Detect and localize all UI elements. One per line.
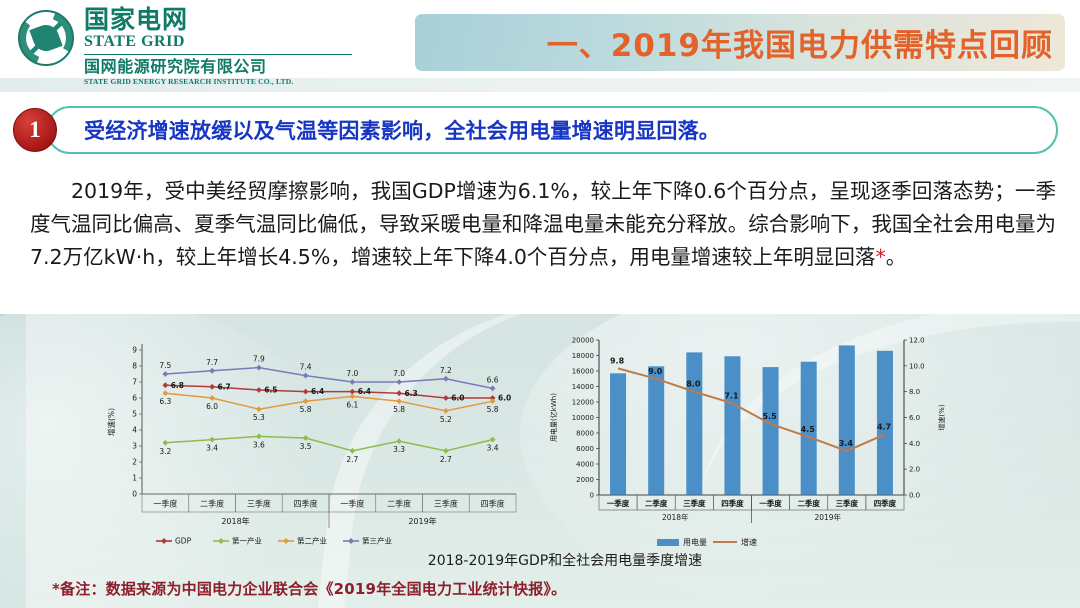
bar [610,373,626,495]
value-label-growth: 7.1 [724,391,739,400]
value-label-growth: 3.4 [839,439,854,448]
electricity-consumption-bar-chart: 0200040006000800010000120001400016000180… [545,328,950,553]
data-point [303,373,309,379]
y-tick-label-left: 16000 [572,368,594,376]
y-tick-label: 8 [132,362,137,371]
logo-title-cn: 国家电网 [84,6,352,33]
legend-label-第一产业: 第一产业 [232,536,262,546]
data-point [162,382,168,388]
body-paragraph: 2019年，受中美经贸摩擦影响，我国GDP增速为6.1%，较上年下降0.6个百分… [30,175,1056,275]
data-point [303,398,309,404]
data-point [256,387,262,393]
y-tick-label: 1 [132,474,137,483]
value-label-primary: 2.7 [440,455,452,464]
y-axis-label: 增速(%) [106,408,116,436]
value-label-secondary: 5.8 [300,405,312,414]
bar [724,356,740,495]
y-tick-label-right: 10.0 [909,362,925,370]
x-tick-label: 三季度 [683,498,706,508]
data-point [162,390,168,396]
value-label-tertiary: 7.4 [300,363,312,372]
x-tick-label: 三季度 [434,499,458,509]
data-point [396,398,402,404]
value-label-gdp: 6.5 [264,386,277,395]
headline-number-badge: 1 [13,108,57,152]
footnote-asterisk: * [875,245,885,269]
data-point [303,389,309,395]
bar [763,367,779,495]
data-point [209,437,215,443]
data-point [256,434,262,440]
data-point [349,394,355,400]
x-tick-label: 四季度 [721,498,744,508]
logo-subtitle-en: STATE GRID ENERGY RESEARCH INSTITUTE CO.… [84,77,352,86]
value-label-primary: 3.3 [393,445,405,454]
y-tick-label-right: 2.0 [909,466,920,474]
value-label-tertiary: 7.2 [440,366,452,375]
data-point [490,386,496,392]
value-label-gdp: 6.8 [171,381,184,390]
x-tick-label: 四季度 [874,498,897,508]
charts-region: 0123456789增速(%)一季度二季度三季度四季度一季度二季度三季度四季度2… [0,318,1080,608]
data-point [349,379,355,385]
legend-marker [348,538,354,544]
legend-label-bar: 用电量 [683,537,707,547]
page-title: 一、2019年我国电力供需特点回顾 [547,20,1053,65]
value-label-growth: 4.7 [877,422,891,431]
logo-text-block: 国家电网 STATE GRID 国网能源研究院有限公司 STATE GRID E… [84,6,352,86]
y-tick-label-left: 0 [590,492,594,500]
data-point [209,368,215,374]
x-group-label: 2019年 [408,516,436,526]
legend-swatch-bar [657,539,679,546]
y-tick-label: 5 [132,410,137,419]
company-logo: 国家电网 STATE GRID 国网能源研究院有限公司 STATE GRID E… [18,6,352,86]
value-label-primary: 3.4 [487,444,499,453]
data-point [256,365,262,371]
x-tick-label: 二季度 [387,499,411,509]
value-label-gdp: 6.4 [358,387,371,396]
y-tick-label-right: 6.0 [909,414,920,422]
x-tick-label: 一季度 [759,498,782,508]
data-point [490,398,496,404]
value-label-tertiary: 7.9 [253,355,265,364]
value-label-tertiary: 7.0 [346,369,358,378]
value-label-tertiary: 7.0 [393,369,405,378]
value-label-primary: 3.2 [159,447,171,456]
legend-marker [161,538,167,544]
x-tick-label: 一季度 [153,499,177,509]
legend-marker [218,538,224,544]
y-tick-label-left: 6000 [576,445,594,453]
logo-title-en: STATE GRID [84,33,352,51]
data-point [209,395,215,401]
x-tick-label: 四季度 [481,499,505,509]
value-label-tertiary: 7.7 [206,358,218,367]
state-grid-logo-icon [18,10,74,66]
x-tick-label: 一季度 [340,499,364,509]
data-point [349,448,355,454]
value-label-growth: 4.5 [801,425,816,434]
value-label-primary: 3.4 [206,444,218,453]
value-label-secondary: 5.3 [253,413,265,422]
value-label-growth: 9.0 [648,367,663,376]
legend-label-第三产业: 第三产业 [362,536,392,546]
value-label-gdp: 6.0 [498,394,511,403]
y-tick-label-right: 12.0 [909,337,925,345]
y-tick-label-right: 4.0 [909,440,920,448]
value-label-primary: 3.6 [253,440,265,449]
value-label-growth: 9.8 [610,356,625,365]
data-point [443,448,449,454]
data-point [303,435,309,441]
chart-caption: 2018-2019年GDP和全社会用电量季度增速 [330,550,800,570]
x-tick-label: 二季度 [645,498,668,508]
data-point [209,384,215,390]
legend-label-line: 增速 [741,537,757,547]
bar [648,366,664,495]
value-label-gdp: 6.7 [217,382,230,391]
headline-text: 受经济增速放缓以及气温等因素影响，全社会用电量增速明显回落。 [84,115,720,145]
value-label-growth: 5.5 [762,412,777,421]
value-label-secondary: 5.2 [440,415,452,424]
data-point [162,440,168,446]
value-label-primary: 3.5 [300,442,312,451]
data-point [443,376,449,382]
source-footnote: *备注：数据来源为中国电力企业联合会《2019年全国电力工业统计快报》。 [52,578,566,599]
x-tick-label: 三季度 [836,498,859,508]
x-group-label: 2019年 [814,512,841,522]
data-point [396,390,402,396]
value-label-secondary: 6.3 [159,397,171,406]
y-tick-label-left: 12000 [572,399,594,407]
x-group-label: 2018年 [662,512,689,522]
x-group-label: 2018年 [221,516,249,526]
value-label-growth: 8.0 [686,380,701,389]
value-label-secondary: 6.1 [346,400,358,409]
data-point [256,406,262,412]
y-tick-label: 7 [132,378,137,387]
y-tick-label-right: 8.0 [909,388,920,396]
y-tick-label: 2 [132,458,137,467]
logo-divider [84,54,352,55]
slide-header: 国家电网 STATE GRID 国网能源研究院有限公司 STATE GRID E… [0,0,1080,92]
y-tick-label-left: 14000 [572,383,594,391]
x-tick-label: 四季度 [294,499,318,509]
paragraph-tail: 。 [886,245,907,269]
y-tick-label: 4 [132,426,137,435]
y-tick-label: 9 [132,346,137,355]
y-tick-label-left: 4000 [576,461,594,469]
x-tick-label: 三季度 [247,499,271,509]
value-label-secondary: 5.8 [487,405,499,414]
headline-bar: 受经济增速放缓以及气温等因素影响，全社会用电量增速明显回落。 [46,106,1058,154]
data-point [396,438,402,444]
legend-label-GDP: GDP [175,537,192,546]
data-point [396,379,402,385]
y-tick-label: 3 [132,442,137,451]
data-point [443,395,449,401]
y-tick-label: 6 [132,394,137,403]
section-title-banner: 一、2019年我国电力供需特点回顾 [415,14,1065,71]
y-tick-label-right: 0.0 [909,492,920,500]
y-axis-label-left: 用电量(亿kWh) [549,393,558,442]
value-label-secondary: 6.0 [206,402,218,411]
value-label-tertiary: 6.6 [487,375,499,384]
y-tick-label-left: 18000 [572,352,594,360]
y-axis-label-right: 增速(%) [937,404,946,430]
y-tick-label-left: 2000 [576,476,594,484]
bar [686,352,702,495]
data-point [443,408,449,414]
y-tick-label-left: 8000 [576,430,594,438]
data-point [490,437,496,443]
x-tick-label: 二季度 [200,499,224,509]
bar [839,345,855,495]
value-label-gdp: 6.3 [404,389,417,398]
x-tick-label: 二季度 [797,498,820,508]
y-tick-label-left: 10000 [572,414,594,422]
y-tick-label-left: 20000 [572,337,594,345]
value-label-gdp: 6.0 [451,394,464,403]
x-tick-label: 一季度 [607,498,630,508]
legend-marker [283,538,289,544]
value-label-secondary: 5.8 [393,405,405,414]
y-tick-label: 0 [132,490,137,499]
data-point [162,371,168,377]
legend-label-第二产业: 第二产业 [297,536,327,546]
value-label-tertiary: 7.5 [159,361,171,370]
logo-subtitle-cn: 国网能源研究院有限公司 [84,58,352,76]
gdp-growth-line-chart: 0123456789增速(%)一季度二季度三季度四季度一季度二季度三季度四季度2… [104,330,524,552]
value-label-primary: 2.7 [346,455,358,464]
value-label-gdp: 6.4 [311,387,324,396]
